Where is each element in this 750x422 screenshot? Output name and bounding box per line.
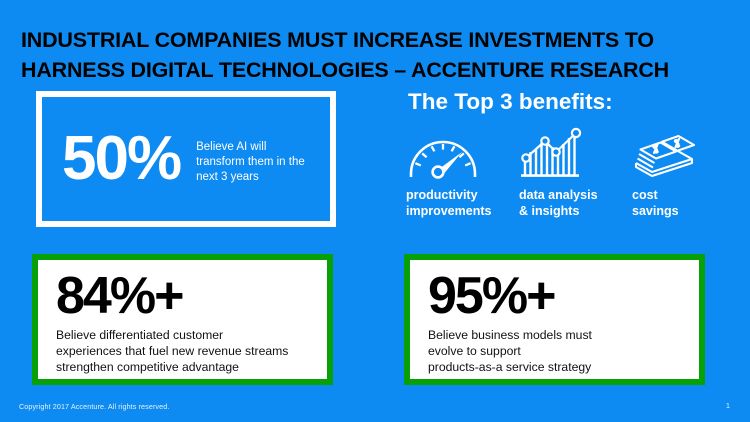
stat-card-ai: 50% Believe AI will transform them in th… [36, 91, 336, 227]
page-title-line-2: Harness digital technologies – Accenture… [21, 55, 735, 85]
page-title: Industrial companies must increase inves… [21, 25, 735, 85]
benefit-label-data-analysis: data analysis & insights [513, 188, 598, 219]
stat-description-95: Believe business models must evolve to s… [428, 327, 699, 375]
page-title-line-1: Industrial companies must increase inves… [21, 25, 735, 55]
benefit-item-data-analysis: data analysis & insights [513, 124, 626, 219]
benefit-item-productivity: productivity improvements [400, 124, 513, 219]
money-stack-icon [626, 124, 698, 182]
stat-caption-ai: Believe AI will transform them in the ne… [196, 140, 306, 185]
stat-value-95: 95%+ [428, 268, 699, 324]
stat-description-84: Believe differentiated customer experien… [56, 327, 327, 375]
benefit-item-cost-savings: cost savings [626, 124, 739, 219]
slide-canvas: Industrial companies must increase inves… [0, 0, 750, 422]
benefits-list: productivity improvements [400, 124, 740, 219]
benefit-label-productivity: productivity improvements [400, 188, 491, 219]
stat-value-ai: 50% [62, 128, 180, 190]
footer-copyright: Copyright 2017 Accenture. All rights res… [19, 402, 169, 412]
stat-card-customer-experience: 84%+ Believe differentiated customer exp… [32, 254, 333, 385]
bar-line-chart-icon [513, 124, 585, 182]
benefits-heading: The Top 3 benefits: [408, 88, 613, 116]
benefit-label-cost-savings: cost savings [626, 188, 679, 219]
stat-value-84: 84%+ [56, 268, 327, 324]
footer-page-number: 1 [726, 401, 730, 411]
stat-card-business-models: 95%+ Believe business models must evolve… [404, 254, 705, 385]
speedometer-icon [400, 124, 480, 182]
